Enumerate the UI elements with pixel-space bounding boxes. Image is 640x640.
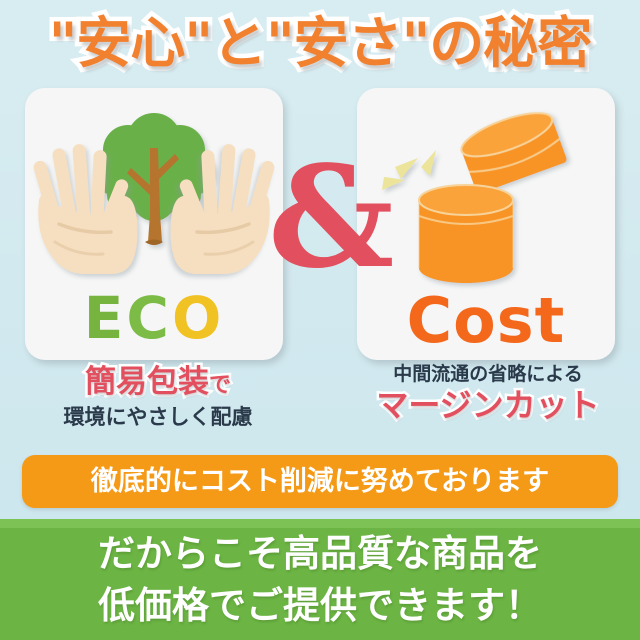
coin-stack-cut-icon <box>357 94 615 294</box>
eco-caption-headline-main: 簡易包装 <box>85 364 209 400</box>
cost-caption: 中間流通の省略による マージンカット <box>338 362 638 424</box>
page-title-text: "安心"と"安さ"の秘密 <box>49 6 592 80</box>
cut-slice-icon <box>457 104 568 194</box>
cost-caption-subline: 中間流通の省略による <box>338 362 638 386</box>
cost-reduction-banner: 徹底的にコスト削減に努めております <box>22 455 618 508</box>
cost-card: Cost <box>357 88 615 360</box>
hands-tree-svg <box>25 96 283 296</box>
footer-line-1: だからこそ高品質な商品を <box>0 528 640 580</box>
eco-letter-o: O <box>172 284 224 352</box>
eco-card: ECO <box>25 88 283 360</box>
page-title: "安心"と"安さ"の秘密 <box>0 6 640 80</box>
eco-caption: 簡易包装で 環境にやさしく配慮 <box>8 364 308 431</box>
coin-stack-icon <box>419 185 513 283</box>
footer-message: だからこそ高品質な商品を 低価格でご提供できます！ <box>0 528 640 632</box>
cost-label: Cost <box>357 288 615 354</box>
cost-caption-headline: マージンカット <box>338 386 638 424</box>
promo-graphic: "安心"と"安さ"の秘密 <box>0 0 640 640</box>
eco-label: ECO <box>25 288 283 348</box>
footer-line-2: 低価格でご提供できます！ <box>0 580 640 632</box>
eco-caption-headline: 簡易包装で <box>8 364 308 404</box>
eco-letter-e: E <box>84 284 127 352</box>
cost-reduction-banner-text: 徹底的にコスト削減に努めております <box>91 467 549 497</box>
coin-cut-svg <box>357 94 615 294</box>
eco-caption-subline: 環境にやさしく配慮 <box>8 404 308 431</box>
eco-letter-c: C <box>126 284 172 352</box>
eco-caption-headline-suffix: で <box>209 373 231 398</box>
hands-holding-tree-icon <box>25 96 283 296</box>
green-top-strip <box>0 519 640 528</box>
ampersand-connector: & <box>268 148 372 288</box>
